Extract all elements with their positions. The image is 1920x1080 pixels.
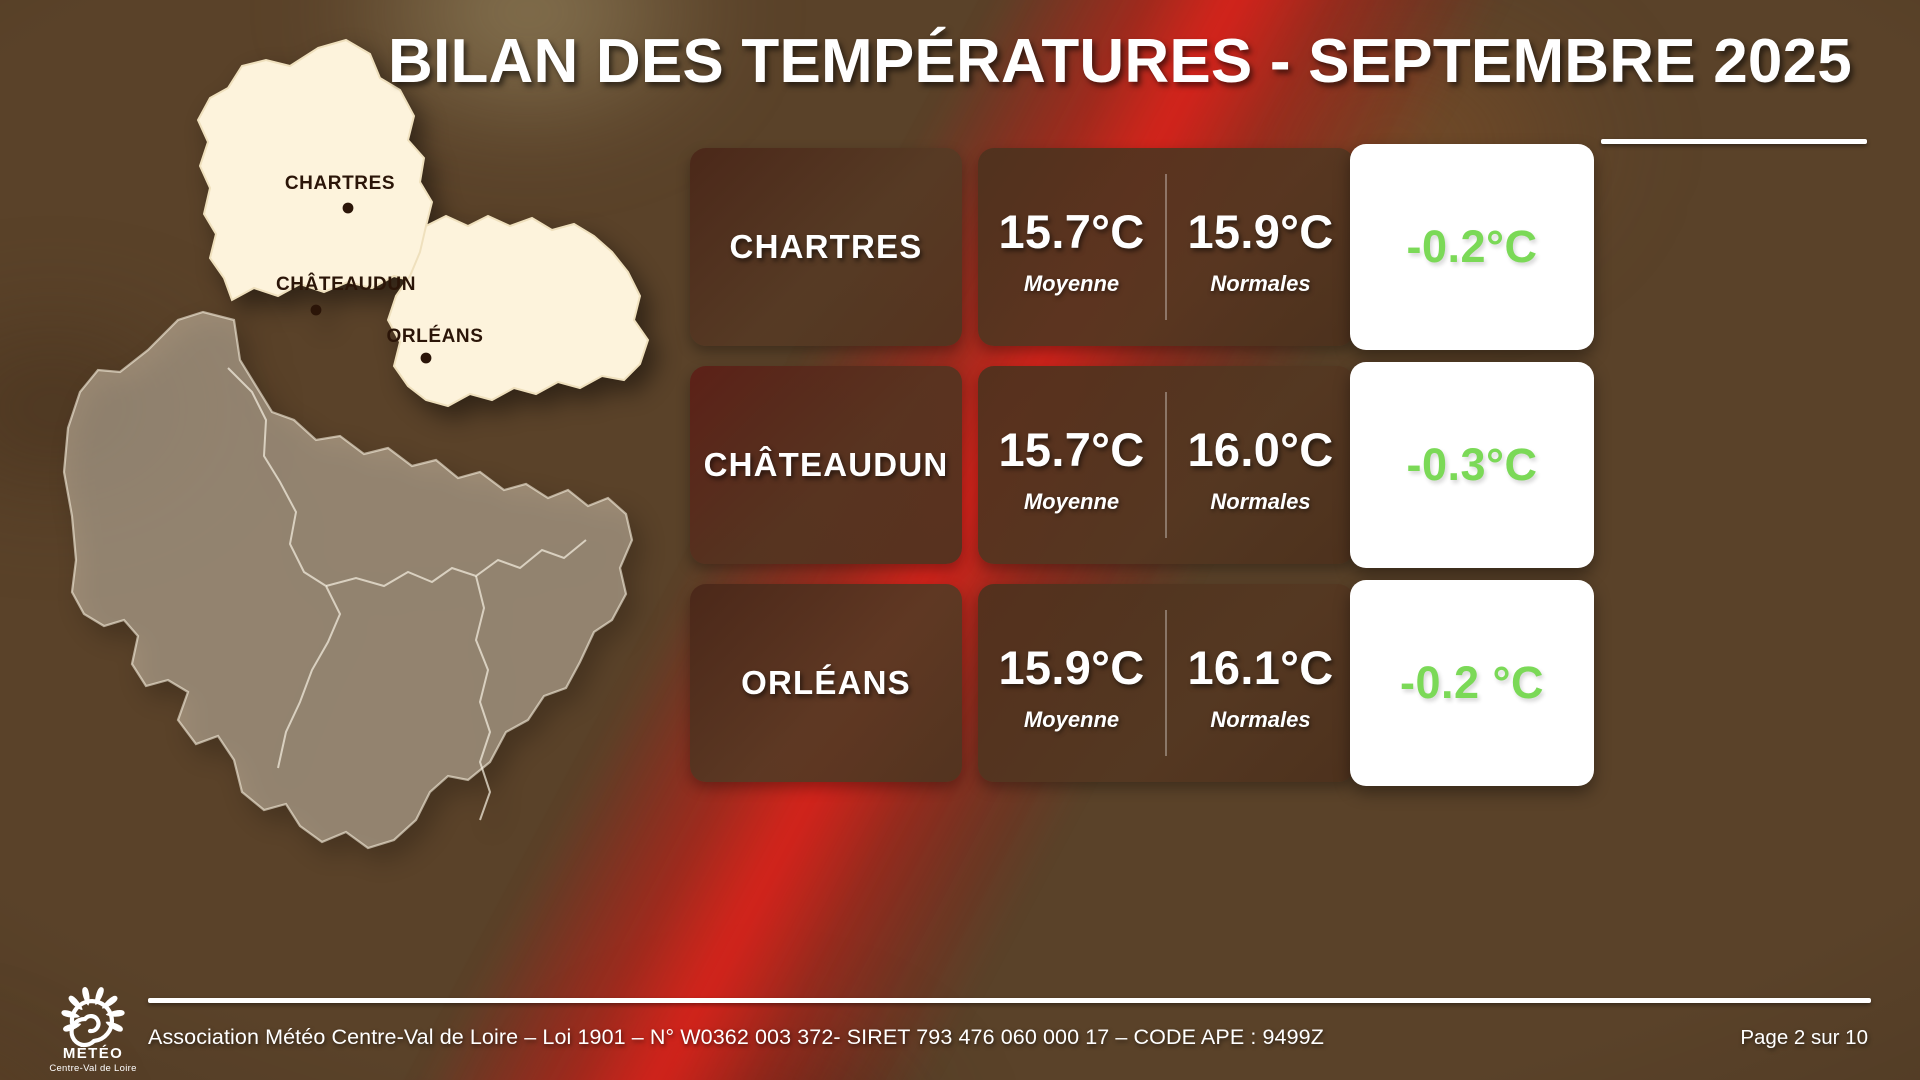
anomaly-value: -0.2 °C [1400,657,1544,709]
normal-value: 16.0°C [1187,422,1333,477]
normal-value: 15.9°C [1187,204,1333,259]
map-city-label: CHÂTEAUDUN [276,273,416,295]
values-card: 15.9°C Moyenne 16.1°C Normales [978,584,1354,782]
normal-column: 16.0°C Normales [1167,366,1354,564]
anomaly-value: -0.3°C [1406,439,1537,491]
normal-caption: Normales [1210,271,1310,297]
city-card: CHARTRES [690,148,962,346]
normal-column: 16.1°C Normales [1167,584,1354,782]
city-card: CHÂTEAUDUN [690,366,962,564]
mean-caption: Moyenne [1024,271,1119,297]
normal-value: 16.1°C [1187,640,1333,695]
page-number: Page 2 sur 10 [1740,1026,1868,1050]
meteo-logo: MÉTÉO Centre-Val de Loire [38,978,148,1078]
logo-subtitle: Centre-Val de Loire [49,1063,136,1074]
anomaly-card: -0.3°C [1350,362,1594,568]
map-city-dot [343,203,354,214]
city-name: CHÂTEAUDUN [704,446,949,484]
mean-value: 15.7°C [998,422,1144,477]
mean-column: 15.7°C Moyenne [978,148,1165,346]
title-underline [1601,139,1867,144]
logo-title: MÉTÉO [63,1045,123,1062]
city-name: CHARTRES [730,228,923,266]
table-row: CHARTRES 15.7°C Moyenne 15.9°C Normales … [690,148,1870,346]
anomaly-card: -0.2°C [1350,144,1594,350]
mean-caption: Moyenne [1024,489,1119,515]
map-other-departments [64,312,632,848]
mean-caption: Moyenne [1024,707,1119,733]
normal-caption: Normales [1210,489,1310,515]
page-title: BILAN DES TEMPÉRATURES - SEPTEMBRE 2025 [360,26,1880,97]
temperature-table: CHARTRES 15.7°C Moyenne 15.9°C Normales … [690,148,1870,782]
normal-caption: Normales [1210,707,1310,733]
map-city-dot [311,305,322,316]
anomaly-card: -0.2 °C [1350,580,1594,786]
map-city-label: ORLÉANS [386,325,483,347]
city-name: ORLÉANS [741,664,911,702]
normal-column: 15.9°C Normales [1167,148,1354,346]
footer-legal-text: Association Météo Centre-Val de Loire – … [148,1025,1324,1050]
map-city-label: CHARTRES [285,173,395,194]
mean-column: 15.9°C Moyenne [978,584,1165,782]
mean-value: 15.7°C [998,204,1144,259]
map-city-dot [421,353,432,364]
anomaly-value: -0.2°C [1406,221,1537,273]
values-card: 15.7°C Moyenne 15.9°C Normales [978,148,1354,346]
table-row: ORLÉANS 15.9°C Moyenne 16.1°C Normales -… [690,584,1870,782]
mean-value: 15.9°C [998,640,1144,695]
city-card: ORLÉANS [690,584,962,782]
values-card: 15.7°C Moyenne 16.0°C Normales [978,366,1354,564]
footer-divider [148,998,1871,1003]
map-dept-loiret [388,216,648,406]
mean-column: 15.7°C Moyenne [978,366,1165,564]
region-map: CHARTRES CHÂTEAUDUN ORLÉANS [28,20,688,980]
table-row: CHÂTEAUDUN 15.7°C Moyenne 16.0°C Normale… [690,366,1870,564]
sun-icon [61,986,125,1045]
